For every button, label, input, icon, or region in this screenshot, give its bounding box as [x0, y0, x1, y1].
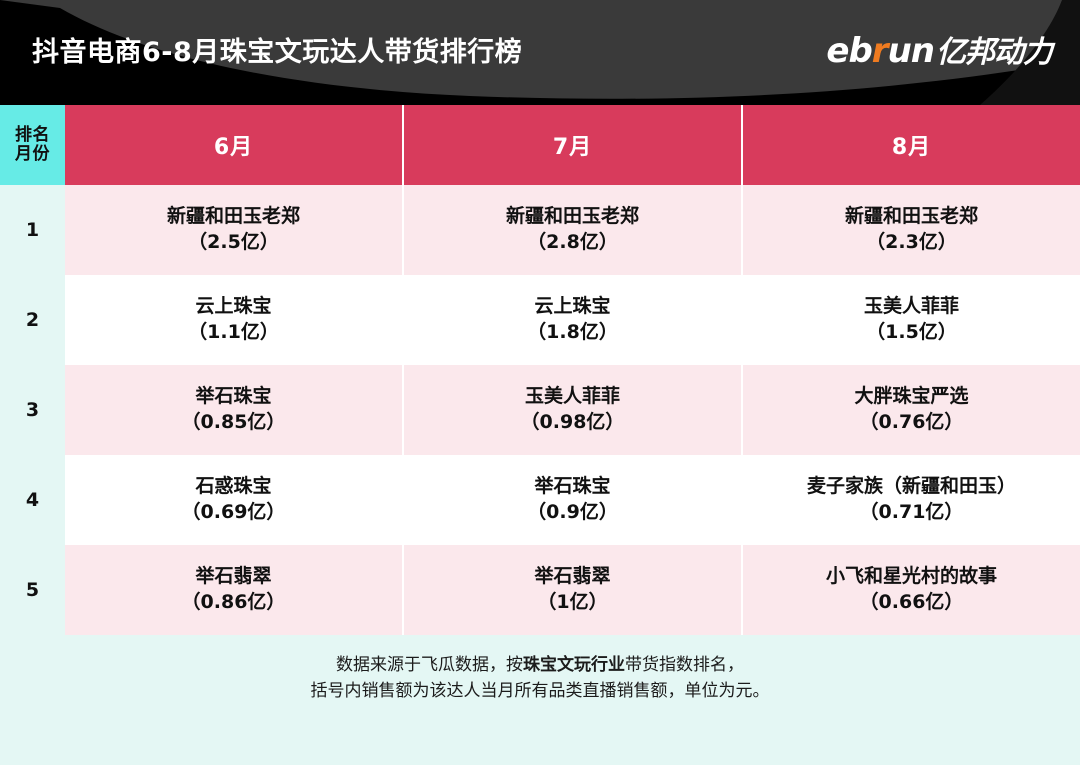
- sales-amount: （2.3亿）: [866, 230, 957, 256]
- data-cell-june: 举石翡翠 （0.86亿）: [65, 545, 402, 635]
- data-cell-july: 新疆和田玉老郑 （2.8亿）: [402, 185, 741, 275]
- logo-text-r: r: [872, 31, 888, 71]
- creator-name: 石惑珠宝: [195, 474, 271, 500]
- creator-name: 云上珠宝: [534, 294, 610, 320]
- creator-name: 小飞和星光村的故事: [826, 564, 997, 590]
- sales-amount: （0.71亿）: [860, 500, 964, 526]
- footer-line1-suffix: 带货指数排名，: [625, 655, 744, 675]
- sales-amount: （1亿）: [537, 590, 607, 616]
- rank-cell: 5: [0, 545, 65, 635]
- data-cell-august: 小飞和星光村的故事 （0.66亿）: [741, 545, 1080, 635]
- table-row: 5 举石翡翠 （0.86亿） 举石翡翠 （1亿） 小飞和星光村的故事 （0.66…: [0, 545, 1080, 635]
- data-cell-july: 举石珠宝 （0.9亿）: [402, 455, 741, 545]
- data-cell-june: 石惑珠宝 （0.69亿）: [65, 455, 402, 545]
- footer-note-line1: 数据来源于飞瓜数据，按珠宝文玩行业带货指数排名，: [336, 652, 744, 678]
- sales-amount: （2.5亿）: [188, 230, 279, 256]
- logo-wordmark-cn: 亿邦动力: [936, 27, 1052, 71]
- corner-label-month: 月份: [15, 145, 50, 164]
- creator-name: 举石翡翠: [534, 564, 610, 590]
- logo-text-un: un: [888, 31, 934, 71]
- corner-header-cell: 排名 月份: [0, 105, 65, 185]
- footer-note-line2: 括号内销售额为该达人当月所有品类直播销售额，单位为元。: [311, 678, 770, 704]
- creator-name: 麦子家族（新疆和田玉）: [807, 474, 1016, 500]
- data-cell-august: 大胖珠宝严选 （0.76亿）: [741, 365, 1080, 455]
- sales-amount: （0.85亿）: [182, 410, 286, 436]
- sales-amount: （0.9亿）: [527, 500, 618, 526]
- data-cell-august: 麦子家族（新疆和田玉） （0.71亿）: [741, 455, 1080, 545]
- data-cell-june: 新疆和田玉老郑 （2.5亿）: [65, 185, 402, 275]
- table-header-row: 排名 月份 6月 7月 8月: [0, 105, 1080, 185]
- table-row: 3 举石珠宝 （0.85亿） 玉美人菲菲 （0.98亿） 大胖珠宝严选 （0.7…: [0, 365, 1080, 455]
- data-cell-july: 举石翡翠 （1亿）: [402, 545, 741, 635]
- sales-amount: （0.98亿）: [521, 410, 625, 436]
- column-header-july: 7月: [402, 105, 741, 185]
- sales-amount: （1.8亿）: [527, 320, 618, 346]
- data-cell-june: 举石珠宝 （0.85亿）: [65, 365, 402, 455]
- creator-name: 玉美人菲菲: [864, 294, 959, 320]
- footer-line1-prefix: 数据来源于飞瓜数据，按: [336, 655, 523, 675]
- data-cell-august: 新疆和田玉老郑 （2.3亿）: [741, 185, 1080, 275]
- header-banner: 抖音电商6-8月珠宝文玩达人带货排行榜 ebrun 亿邦动力: [0, 0, 1080, 105]
- data-cell-july: 玉美人菲菲 （0.98亿）: [402, 365, 741, 455]
- table-row: 4 石惑珠宝 （0.69亿） 举石珠宝 （0.9亿） 麦子家族（新疆和田玉） （…: [0, 455, 1080, 545]
- page-title: 抖音电商6-8月珠宝文玩达人带货排行榜: [32, 30, 522, 69]
- logo-text-eb: eb: [826, 31, 871, 71]
- footer-line1-bold: 珠宝文玩行业: [523, 655, 625, 675]
- sales-amount: （0.86亿）: [182, 590, 286, 616]
- creator-name: 新疆和田玉老郑: [167, 204, 300, 230]
- ebrun-logo: ebrun 亿邦动力: [826, 27, 1052, 71]
- data-cell-june: 云上珠宝 （1.1亿）: [65, 275, 402, 365]
- creator-name: 云上珠宝: [195, 294, 271, 320]
- creator-name: 举石翡翠: [195, 564, 271, 590]
- rank-cell: 1: [0, 185, 65, 275]
- rank-cell: 2: [0, 275, 65, 365]
- column-header-june: 6月: [65, 105, 402, 185]
- sales-amount: （1.5亿）: [866, 320, 957, 346]
- rank-cell: 4: [0, 455, 65, 545]
- column-header-august: 8月: [741, 105, 1080, 185]
- corner-label-rank: 排名: [15, 126, 50, 145]
- sales-amount: （2.8亿）: [527, 230, 618, 256]
- data-cell-august: 玉美人菲菲 （1.5亿）: [741, 275, 1080, 365]
- sales-amount: （0.69亿）: [182, 500, 286, 526]
- infographic-page: 抖音电商6-8月珠宝文玩达人带货排行榜 ebrun 亿邦动力 排名 月份 6月 …: [0, 0, 1080, 765]
- footer-note: 数据来源于飞瓜数据，按珠宝文玩行业带货指数排名， 括号内销售额为该达人当月所有品…: [0, 635, 1080, 717]
- sales-amount: （1.1亿）: [188, 320, 279, 346]
- ranking-table: 排名 月份 6月 7月 8月 1 新疆和田玉老郑 （2.5亿） 新疆和田玉老郑 …: [0, 105, 1080, 635]
- creator-name: 新疆和田玉老郑: [506, 204, 639, 230]
- creator-name: 大胖珠宝严选: [854, 384, 968, 410]
- creator-name: 玉美人菲菲: [525, 384, 620, 410]
- data-cell-july: 云上珠宝 （1.8亿）: [402, 275, 741, 365]
- logo-wordmark-en: ebrun: [826, 31, 934, 71]
- sales-amount: （0.66亿）: [860, 590, 964, 616]
- sales-amount: （0.76亿）: [860, 410, 964, 436]
- creator-name: 举石珠宝: [195, 384, 271, 410]
- table-row: 2 云上珠宝 （1.1亿） 云上珠宝 （1.8亿） 玉美人菲菲 （1.5亿）: [0, 275, 1080, 365]
- rank-cell: 3: [0, 365, 65, 455]
- creator-name: 举石珠宝: [534, 474, 610, 500]
- creator-name: 新疆和田玉老郑: [845, 204, 978, 230]
- table-row: 1 新疆和田玉老郑 （2.5亿） 新疆和田玉老郑 （2.8亿） 新疆和田玉老郑 …: [0, 185, 1080, 275]
